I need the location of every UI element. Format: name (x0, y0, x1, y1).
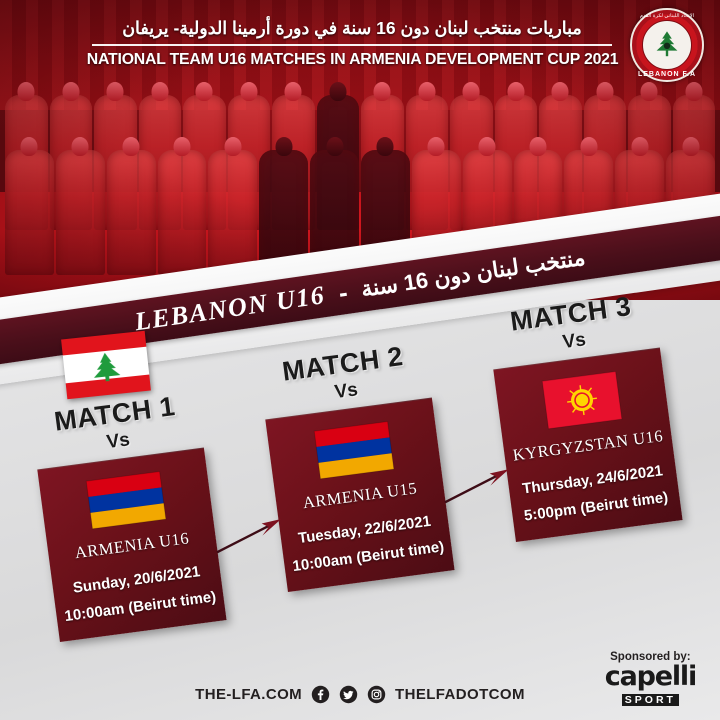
lebanon-flag-icon (59, 328, 153, 403)
sponsor-sub: SPORT (622, 694, 679, 706)
header-divider (92, 44, 612, 46)
footer-social-handle[interactable]: THELFADOTCOM (395, 686, 525, 703)
arrow-match2-to-match3-icon (438, 461, 523, 508)
sponsor-name: capelli (605, 665, 696, 690)
match-1-card[interactable]: ARMENIA U16 Sunday, 20/6/2021 10:00am (B… (37, 448, 226, 642)
instagram-icon[interactable] (367, 685, 386, 704)
banner-separator: - (337, 276, 350, 308)
footer-website[interactable]: THE-LFA.COM (195, 686, 302, 703)
logo-inner-disc (642, 20, 692, 70)
match-1-flag-box (47, 462, 205, 537)
sponsor-block: Sponsored by: capelli SPORT (605, 651, 696, 708)
armenia-flag-icon (84, 469, 168, 531)
arrow-match1-to-match2-icon (210, 511, 295, 558)
kyrgyzstan-flag-icon (540, 369, 624, 431)
match-3-card[interactable]: KYRGYZSTAN U16 Thursday, 24/6/2021 5:00p… (493, 348, 682, 542)
header-texts: مباريات منتخب لبنان دون 16 سنة في دورة أ… (92, 18, 612, 69)
cedar-tree-icon (651, 29, 683, 61)
armenia-flag-icon (312, 419, 396, 481)
header-english-title: NATIONAL TEAM U16 MATCHES IN ARMENIA DEV… (87, 51, 617, 69)
match-column-2[interactable]: MATCH 2 Vs ARMENIA U15 Tuesday, 22/6/202… (257, 338, 454, 592)
header-block: مباريات منتخب لبنان دون 16 سنة في دورة أ… (0, 10, 720, 84)
facebook-icon[interactable] (311, 685, 330, 704)
twitter-icon[interactable] (339, 685, 358, 704)
match-2-flag-box (275, 412, 433, 487)
match-2-card[interactable]: ARMENIA U15 Tuesday, 22/6/2021 10:00am (… (265, 398, 454, 592)
match-column-1[interactable]: MATCH 1 Vs ARMENIA U16 Sunday, 20/6/2021… (29, 388, 226, 642)
match-3-flag-box (503, 362, 661, 437)
poster-root: مباريات منتخب لبنان دون 16 سنة في دورة أ… (0, 0, 720, 720)
lebanon-fa-logo: الاتحاد اللبناني لكرة القدم LEBANON F.A (630, 8, 704, 82)
footer: THE-LFA.COM THELFADOTCOM Sponsored by: c… (0, 664, 720, 720)
logo-arabic-text: الاتحاد اللبناني لكرة القدم (630, 13, 704, 19)
logo-bottom-text: LEBANON F.A (630, 71, 704, 78)
header-arabic-title: مباريات منتخب لبنان دون 16 سنة في دورة أ… (92, 18, 612, 40)
